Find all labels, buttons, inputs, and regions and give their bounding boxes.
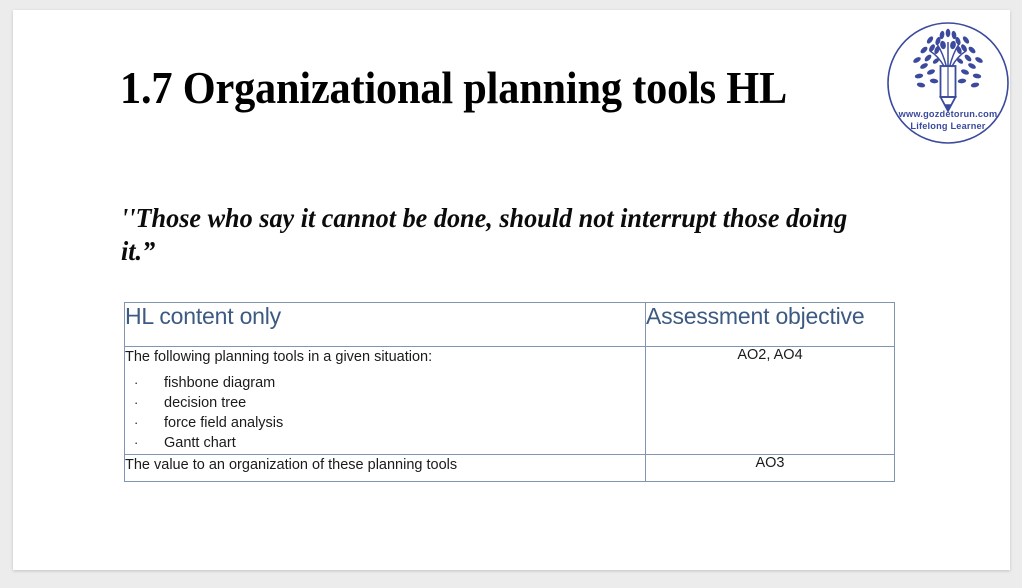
bullet-icon: · — [134, 393, 138, 413]
bullet-icon: · — [134, 373, 138, 393]
slide-canvas: 1.7 Organizational planning tools HL ''T… — [13, 10, 1010, 570]
table-row: The following planning tools in a given … — [125, 347, 895, 455]
list-item-label: decision tree — [164, 395, 246, 411]
column-header-hl-content: HL content only — [125, 303, 646, 347]
quote-text: ''Those who say it cannot be done, shoul… — [121, 202, 858, 268]
list-item-label: fishbone diagram — [164, 375, 275, 391]
bullet-icon: · — [134, 433, 138, 453]
cell-assessment-objective-2: AO3 — [646, 455, 895, 482]
planning-tools-list: · fishbone diagram · decision tree · for… — [125, 373, 645, 453]
logo-tagline: Lifelong Learner — [910, 121, 985, 131]
cell-intro-text: The following planning tools in a given … — [125, 347, 645, 367]
page-title: 1.7 Organizational planning tools HL — [120, 60, 819, 116]
bullet-icon: · — [134, 413, 138, 433]
cell-hl-content-planning-tools: The following planning tools in a given … — [125, 347, 646, 455]
list-item: · Gantt chart — [125, 433, 645, 453]
logo-website: www.gozdetorun.com — [898, 109, 998, 119]
logo-circle-icon: www.gozdetorun.com Lifelong Learner — [886, 21, 1010, 145]
cell-assessment-objective-1: AO2, AO4 — [646, 347, 895, 455]
hl-content-table: HL content only Assessment objective The… — [124, 302, 895, 482]
list-item: · fishbone diagram — [125, 373, 645, 393]
list-item-label: force field analysis — [164, 415, 283, 431]
cell-hl-content-value: The value to an organization of these pl… — [125, 455, 646, 482]
list-item: · decision tree — [125, 393, 645, 413]
table-row: The value to an organization of these pl… — [125, 455, 895, 482]
list-item-label: Gantt chart — [164, 435, 236, 451]
column-header-assessment-objective: Assessment objective — [646, 303, 895, 347]
table-header-row: HL content only Assessment objective — [125, 303, 895, 347]
list-item: · force field analysis — [125, 413, 645, 433]
logo: www.gozdetorun.com Lifelong Learner — [886, 21, 1010, 145]
